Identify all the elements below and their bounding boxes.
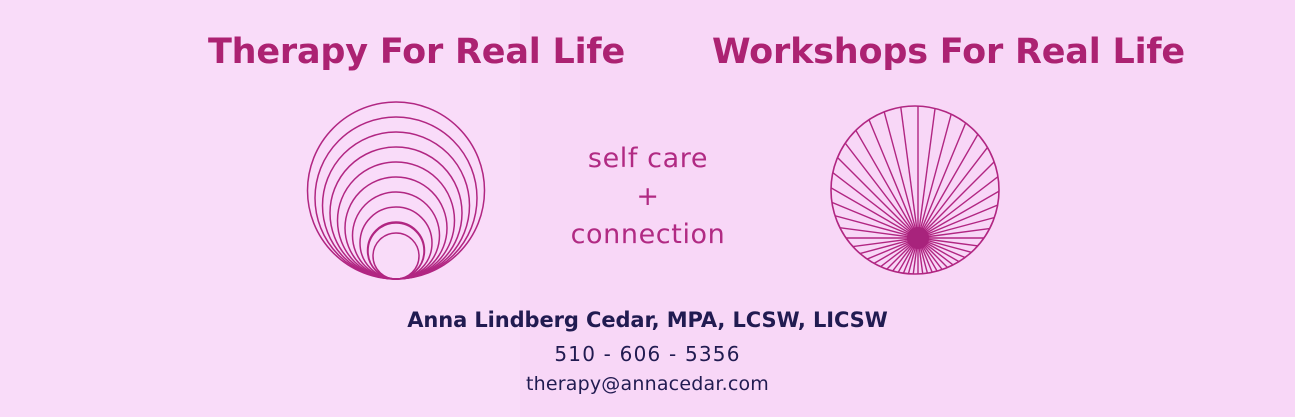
sunburst-icon [820, 104, 1020, 286]
tagline-plus-sign: + [498, 178, 798, 216]
email-address[interactable]: therapy@annacedar.com [0, 370, 1295, 398]
contact-block: Anna Lindberg Cedar, MPA, LCSW, LICSW 51… [0, 306, 1295, 398]
tagline-line-1: self care [498, 140, 798, 178]
center-tagline: self care + connection [498, 140, 798, 254]
tagline-line-3: connection [498, 216, 798, 254]
site-banner: Therapy For Real Life Workshops For Real… [0, 0, 1295, 417]
headings-row: Therapy For Real Life Workshops For Real… [0, 30, 1295, 84]
heading-therapy-for-real-life[interactable]: Therapy For Real Life [208, 30, 625, 74]
nested-rings-icon [292, 100, 500, 286]
phone-number[interactable]: 510 - 606 - 5356 [0, 338, 1295, 370]
heading-workshops-for-real-life[interactable]: Workshops For Real Life [712, 30, 1185, 74]
practitioner-name: Anna Lindberg Cedar, MPA, LCSW, LICSW [0, 306, 1295, 334]
